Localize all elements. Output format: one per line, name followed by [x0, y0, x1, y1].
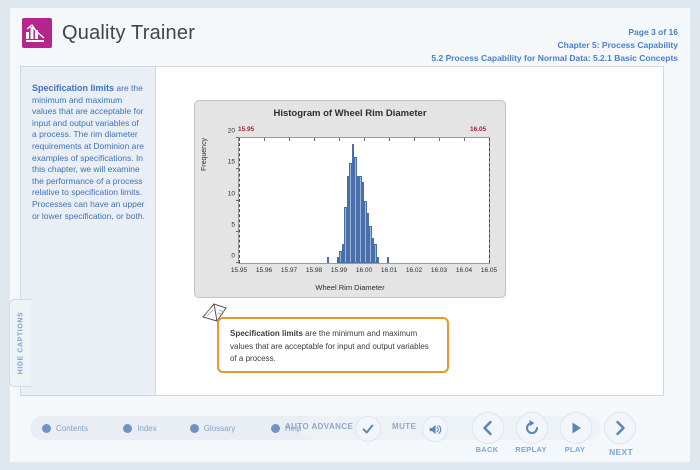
- chart-bar: [377, 257, 380, 263]
- caption-term: Specification limits: [32, 83, 114, 93]
- footer-nav-glossary[interactable]: Glossary: [190, 416, 236, 440]
- section-title: 5.2 Process Capability for Normal Data: …: [431, 52, 678, 65]
- chart-xtick: 16.02: [406, 267, 422, 274]
- chart-ytick: 0: [231, 253, 235, 260]
- chart-xtick: 16.03: [431, 267, 447, 274]
- chart-xtick: 16.05: [481, 267, 497, 274]
- chart-xtick-mark: [314, 138, 315, 141]
- play-button[interactable]: [560, 412, 592, 444]
- chevron-right-icon: [611, 419, 629, 437]
- chart-bar: [327, 257, 330, 263]
- back-label: BACK: [476, 445, 499, 454]
- content-frame: Specification limits are the minimum and…: [20, 66, 664, 396]
- lower-spec-limit: [239, 138, 240, 263]
- callout-term: Specification limits: [230, 329, 303, 338]
- chart-logo-icon: [22, 18, 52, 48]
- bullet-icon: [190, 424, 199, 433]
- callout-box: Specification limits are the minimum and…: [217, 317, 449, 373]
- app-root: Quality Trainer Page 3 of 16 Chapter 5: …: [0, 0, 700, 470]
- chapter-title: Chapter 5: Process Capability: [431, 39, 678, 52]
- footer-nav-label: Glossary: [204, 424, 236, 433]
- chart-xtick-mark: [414, 138, 415, 141]
- bullet-icon: [123, 424, 132, 433]
- chart-xlabel: Wheel Rim Diameter: [195, 283, 505, 292]
- footer-nav-label: Index: [137, 424, 157, 433]
- chart-xtick-mark: [264, 138, 265, 141]
- chart-xtick: 16.04: [456, 267, 472, 274]
- next-button[interactable]: [604, 412, 636, 444]
- chart-xtick-mark: [364, 138, 365, 141]
- chart-xtick-mark: [389, 138, 390, 141]
- speaker-icon: [428, 422, 443, 437]
- header-meta: Page 3 of 16 Chapter 5: Process Capabili…: [431, 26, 678, 65]
- callout-text: Specification limits are the minimum and…: [219, 319, 447, 366]
- chart-ytick: 5: [231, 221, 235, 228]
- app-header: Quality Trainer Page 3 of 16 Chapter 5: …: [10, 8, 690, 60]
- replay-label: REPLAY: [515, 445, 547, 454]
- chart-xtick-mark: [339, 138, 340, 141]
- auto-advance-label: AUTO ADVANCE: [285, 422, 353, 431]
- hide-captions-label: HIDE CAPTIONS: [17, 312, 24, 375]
- footer-nav-label: Contents: [56, 424, 88, 433]
- next-label: NEXT: [609, 447, 633, 457]
- chevron-left-icon: [479, 419, 497, 437]
- play-icon: [567, 419, 585, 437]
- auto-advance-toggle[interactable]: [355, 416, 381, 442]
- refresh-icon: [523, 419, 541, 437]
- chart-bar: [387, 257, 390, 263]
- chart-plot-area: 0510152015.9515.9615.9715.9815.9916.0016…: [238, 137, 490, 264]
- caption-body: are the minimum and maximum values that …: [32, 83, 145, 221]
- lower-spec-limit-label: 15.95: [238, 126, 254, 133]
- page-indicator: Page 3 of 16: [431, 26, 678, 39]
- chart-xtick: 15.95: [231, 267, 247, 274]
- back-button[interactable]: [472, 412, 504, 444]
- bullet-icon: [271, 424, 280, 433]
- caption-text: Specification limits are the minimum and…: [32, 83, 145, 222]
- mute-button[interactable]: [422, 416, 448, 442]
- hide-captions-tab[interactable]: HIDE CAPTIONS: [9, 299, 31, 387]
- bullet-icon: [42, 424, 51, 433]
- chart-ytick: 15: [228, 159, 235, 166]
- chart-title: Histogram of Wheel Rim Diameter: [195, 108, 505, 119]
- upper-spec-limit-label: 16.05: [470, 126, 486, 133]
- check-icon: [361, 422, 375, 436]
- footer-toolbar: ContentsIndexGlossaryHelp AUTO ADVANCE M…: [10, 402, 690, 462]
- page-surface: Quality Trainer Page 3 of 16 Chapter 5: …: [10, 8, 690, 462]
- brand-logo: Quality Trainer: [22, 18, 195, 48]
- chart-xtick: 15.96: [256, 267, 272, 274]
- play-label: PLAY: [565, 445, 586, 454]
- footer-nav-index[interactable]: Index: [123, 416, 157, 440]
- chart-xtick-mark: [464, 138, 465, 141]
- footer-nav-contents[interactable]: Contents: [42, 416, 88, 440]
- brand-title: Quality Trainer: [62, 22, 195, 45]
- upper-spec-limit: [489, 138, 490, 263]
- chart-xtick: 15.99: [331, 267, 347, 274]
- chart-xtick: 15.97: [281, 267, 297, 274]
- chart-ytick: 20: [228, 128, 235, 135]
- chart-xtick: 16.01: [381, 267, 397, 274]
- caption-panel: Specification limits are the minimum and…: [21, 67, 156, 395]
- mute-label: MUTE: [392, 422, 416, 431]
- chart-ytick: 10: [228, 190, 235, 197]
- chart-xtick: 15.98: [306, 267, 322, 274]
- histogram-chart: Histogram of Wheel Rim Diameter Frequenc…: [194, 100, 506, 298]
- lesson-body: Histogram of Wheel Rim Diameter Frequenc…: [157, 67, 663, 395]
- chart-xtick-mark: [439, 138, 440, 141]
- replay-button[interactable]: [516, 412, 548, 444]
- chart-ylabel: Frequency: [201, 138, 208, 171]
- chart-xtick-mark: [289, 138, 290, 141]
- chart-xtick: 16.00: [356, 267, 372, 274]
